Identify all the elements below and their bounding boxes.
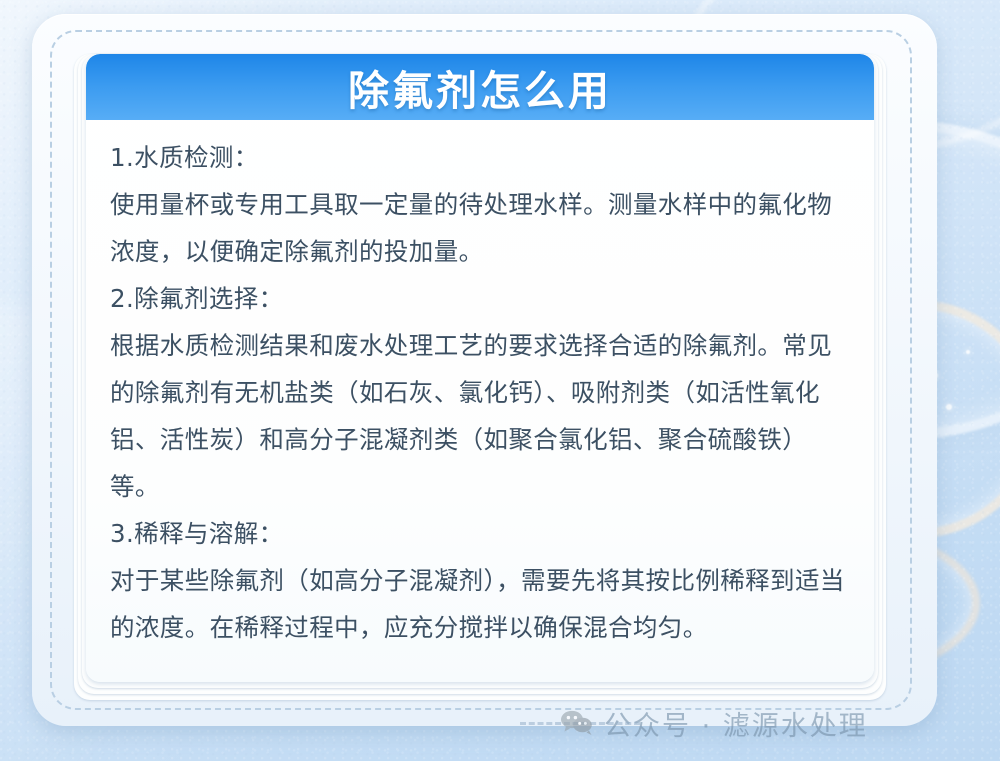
paragraph-step-3-text: 对于某些除氟剂（如高分子混凝剂），需要先将其按比例稀释到适当的浓度。在稀释过程中… <box>110 557 852 651</box>
wechat-logo-icon <box>560 710 594 736</box>
paragraph-step-2-heading: 2.除氟剂选择： <box>110 275 852 322</box>
poster-page: 除氟剂怎么用 1.水质检测： 使用量杯或专用工具取一定量的待处理水样。测量水样中… <box>0 0 1000 761</box>
content-card: 除氟剂怎么用 1.水质检测： 使用量杯或专用工具取一定量的待处理水样。测量水样中… <box>86 54 874 682</box>
page-title: 除氟剂怎么用 <box>348 57 612 117</box>
paragraph-step-3-heading: 3.稀释与溶解： <box>110 510 852 557</box>
paragraph-step-1-text: 使用量杯或专用工具取一定量的待处理水样。测量水样中的氟化物浓度，以便确定除氟剂的… <box>110 181 852 275</box>
watermark-text: 公众号 · 滤源水处理 <box>604 704 868 743</box>
paragraph-step-1-heading: 1.水质检测： <box>110 134 852 181</box>
card-body: 1.水质检测： 使用量杯或专用工具取一定量的待处理水样。测量水样中的氟化物浓度，… <box>86 120 874 661</box>
paragraph-step-2-text: 根据水质检测结果和废水处理工艺的要求选择合适的除氟剂。常见的除氟剂有无机盐类（如… <box>110 322 852 510</box>
card-header: 除氟剂怎么用 <box>86 54 874 120</box>
footer-watermark: 公众号 · 滤源水处理 <box>560 700 990 746</box>
